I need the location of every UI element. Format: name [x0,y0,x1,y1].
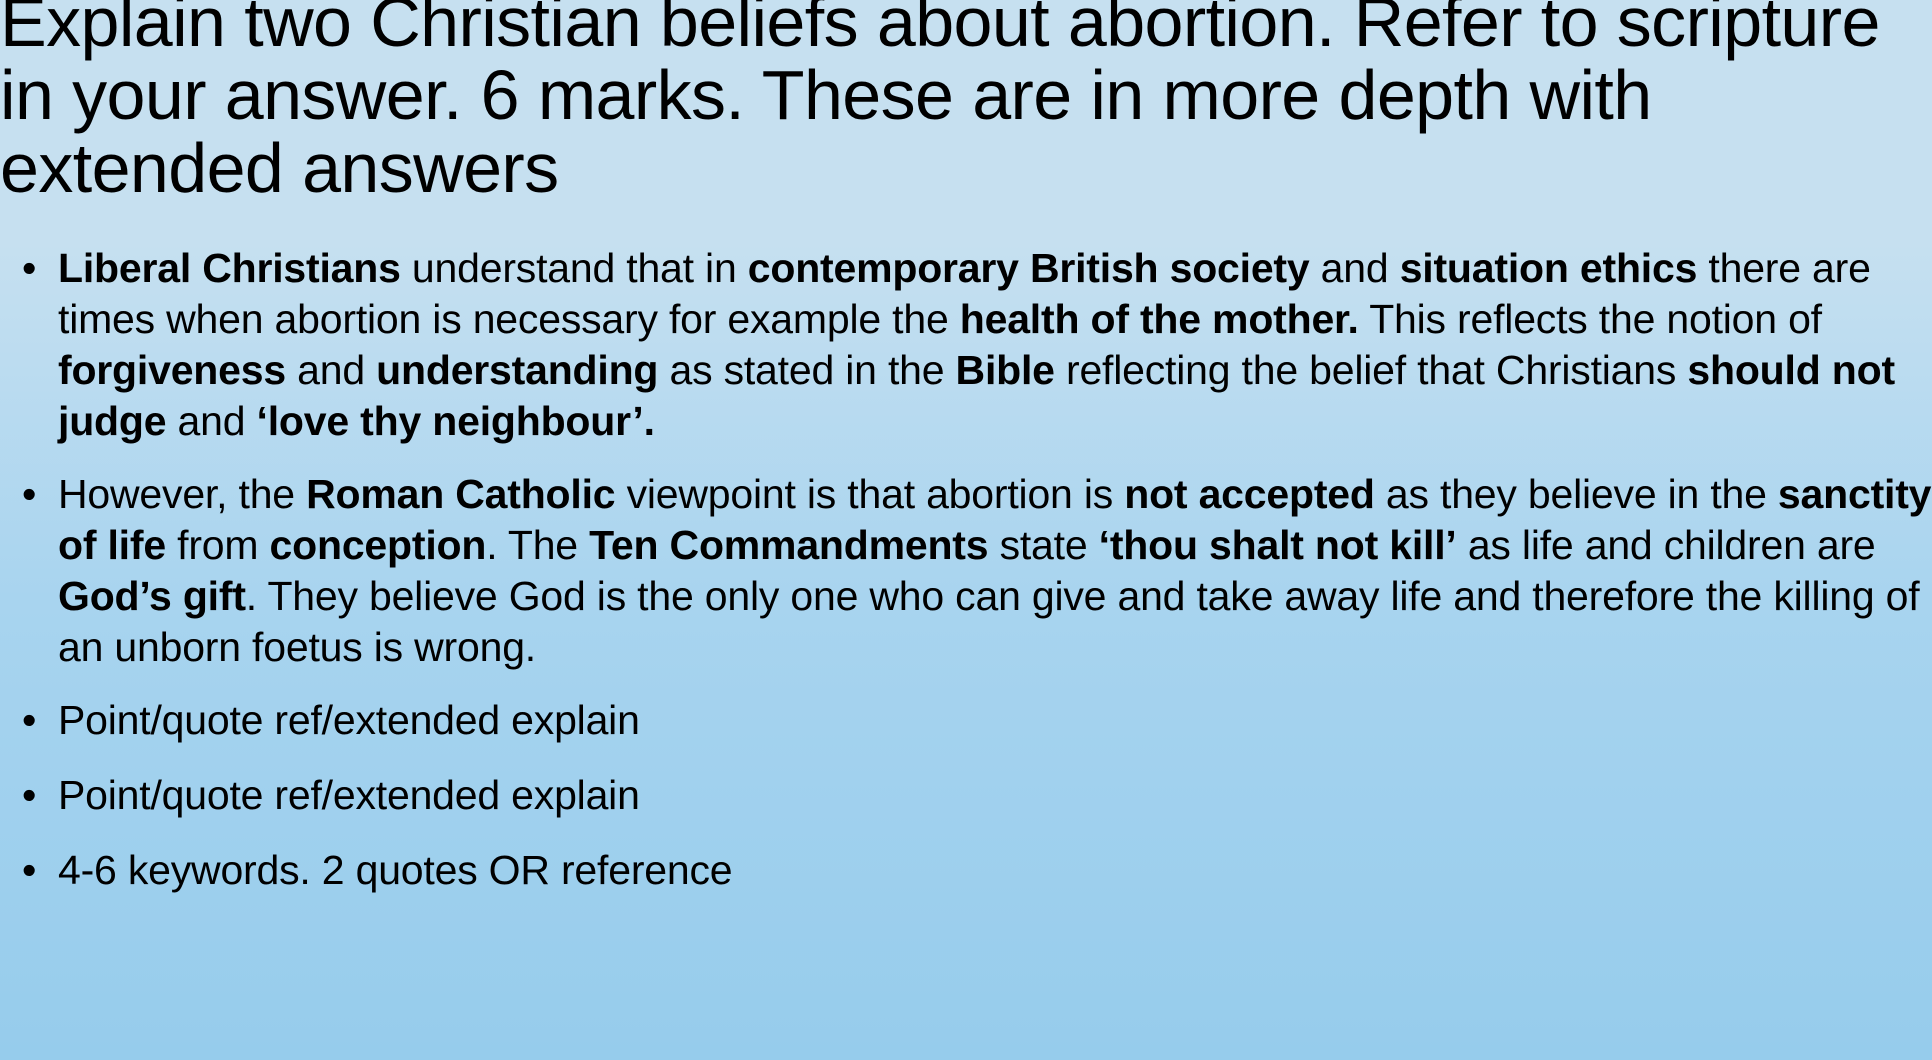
text-run: reflecting the belief that Christians [1055,347,1688,393]
emphasis-run: not accepted [1124,471,1375,517]
emphasis-run: situation ethics [1400,245,1698,291]
bullet-text: Point/quote ref/extended explain [58,697,640,743]
bullet-dot-icon: • [22,770,36,821]
text-run: However, the [58,471,306,517]
emphasis-run: Liberal Christians [58,245,401,291]
emphasis-run: Ten Commandments [589,522,988,568]
text-run: as stated in the [658,347,955,393]
emphasis-run: health of the mother. [960,296,1359,342]
bullet-dot-icon: • [22,845,36,896]
text-run: viewpoint is that abortion is [615,471,1124,517]
text-run: 4-6 keywords. 2 quotes OR reference [58,847,732,893]
bullet-text: 4-6 keywords. 2 quotes OR reference [58,847,732,893]
bullet-item-liberal-christians: •Liberal Christians understand that in c… [0,243,1932,447]
emphasis-run: Bible [956,347,1055,393]
text-run: . The [486,522,589,568]
emphasis-run: understanding [376,347,658,393]
page-title: Explain two Christian beliefs about abor… [0,0,1932,205]
emphasis-run: Roman Catholic [306,471,615,517]
bullet-text: Point/quote ref/extended explain [58,772,640,818]
emphasis-run: ‘love thy neighbour’. [257,398,655,444]
text-run: and [1309,245,1399,291]
emphasis-run: conception [270,522,487,568]
bullet-text: However, the Roman Catholic viewpoint is… [58,471,1931,670]
bullet-dot-icon: • [22,469,36,520]
emphasis-run: contemporary British society [748,245,1310,291]
bullet-item-point-quote-2: •Point/quote ref/extended explain [0,770,1932,821]
bullet-dot-icon: • [22,243,36,294]
slide-canvas: Explain two Christian beliefs about abor… [0,0,1932,1060]
text-run: from [166,522,270,568]
bullet-dot-icon: • [22,695,36,746]
emphasis-run: ‘thou shalt not kill’ [1099,522,1457,568]
text-run: state [988,522,1098,568]
emphasis-run: forgiveness [58,347,286,393]
bullet-list: •Liberal Christians understand that in c… [0,243,1932,920]
text-run: Point/quote ref/extended explain [58,772,640,818]
emphasis-run: God’s gift [58,573,246,619]
bullet-item-point-quote-1: •Point/quote ref/extended explain [0,695,1932,746]
text-run: and [286,347,376,393]
bullet-item-roman-catholic: •However, the Roman Catholic viewpoint i… [0,469,1932,673]
text-run: . They believe God is the only one who c… [58,573,1919,670]
text-run: as life and children are [1457,522,1876,568]
text-run: as they believe in the [1375,471,1778,517]
text-run: This reflects the notion of [1359,296,1822,342]
text-run: and [166,398,256,444]
bullet-item-keywords: •4-6 keywords. 2 quotes OR reference [0,845,1932,896]
bullet-text: Liberal Christians understand that in co… [58,245,1895,444]
text-run: understand that in [401,245,748,291]
text-run: Point/quote ref/extended explain [58,697,640,743]
